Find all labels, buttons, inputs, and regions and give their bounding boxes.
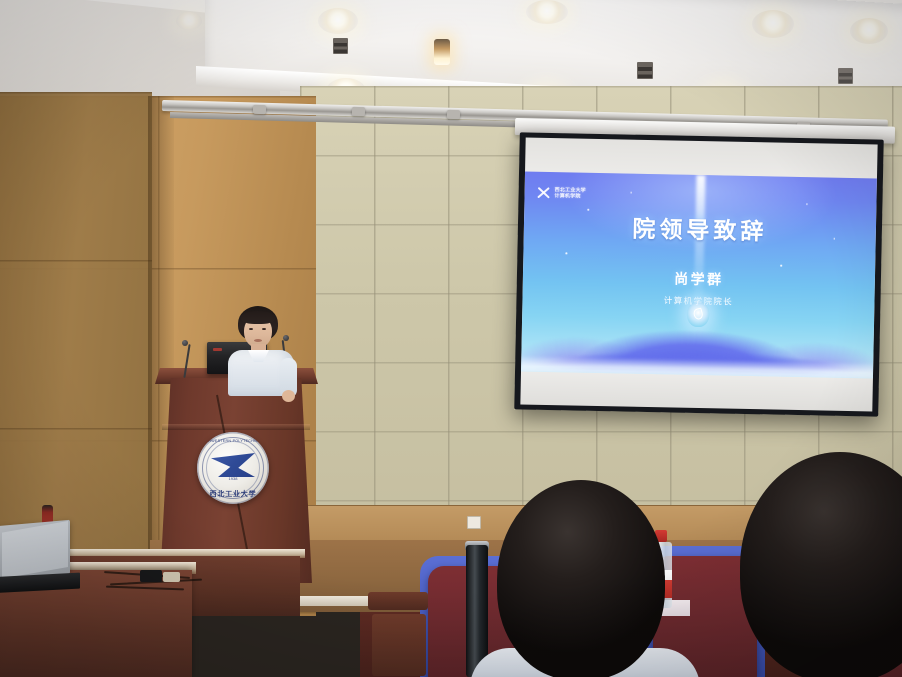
slide-brand-logo: 西北工业大学 计算机学院 — [536, 186, 585, 201]
power-adapter-icon — [140, 570, 162, 582]
slide-star — [630, 192, 632, 194]
slide-content: 西北工业大学 计算机学院 院领导致辞 尚学群 计算机学院院长 — [521, 171, 877, 378]
recessed-downlight-icon — [850, 18, 888, 44]
laptop-screen — [2, 521, 68, 579]
laptop-lid — [0, 520, 70, 580]
seat-armrest — [368, 592, 428, 610]
projection-screen: 西北工业大学 计算机学院 院领导致辞 尚学群 计算机学院院长 — [514, 132, 883, 416]
podium-trim-band — [162, 424, 310, 430]
recessed-downlight-icon — [752, 10, 794, 38]
presenter-mouth — [254, 339, 262, 342]
rail-clip-icon — [352, 107, 365, 116]
audience-head-foreground-left — [497, 480, 665, 677]
conference-photo-scene: 西北工业大学 计算机学院 院领导致辞 尚学群 计算机学院院长 NORTH — [0, 0, 902, 677]
presenter-at-podium — [222, 306, 302, 386]
seat-armrest — [372, 614, 426, 676]
presenter-eye-right — [262, 328, 266, 330]
slide-speaker-name: 尚学群 — [523, 265, 875, 292]
wall-outlet-icon — [467, 516, 481, 529]
wood-panel-wall-corner — [0, 92, 152, 592]
recessed-downlight-icon — [318, 8, 358, 34]
slide-star — [806, 203, 808, 205]
seal-year: 1938 — [197, 476, 269, 481]
seal-bottom-text: 西北工业大学 — [197, 489, 269, 499]
power-brick-icon — [163, 572, 180, 582]
university-wing-emblem-icon: NORTHWESTERN POLYTECHNICAL UNIVERSITY 19… — [197, 432, 269, 504]
laptop-brand-mark — [213, 348, 222, 351]
recessed-downlight-icon — [526, 0, 568, 24]
slide-logo-text: 西北工业大学 计算机学院 — [554, 187, 585, 200]
slide-logo-line2: 计算机学院 — [554, 193, 580, 200]
rail-clip-icon — [447, 110, 460, 119]
warm-spotlight-icon — [434, 39, 450, 65]
recessed-downlight-icon — [176, 12, 202, 30]
slide-star — [780, 265, 782, 267]
slide-title: 院领导致辞 — [524, 207, 877, 248]
presenter-fringe — [241, 311, 275, 324]
ceiling-vent-icon — [333, 38, 348, 54]
seal-top-text: NORTHWESTERN POLYTECHNICAL UNIVERSITY — [197, 439, 269, 443]
open-laptop-icon — [0, 523, 76, 595]
x-mark-icon — [536, 186, 550, 200]
presenter-eye-left — [249, 328, 253, 330]
ceiling-vent-icon — [637, 62, 653, 79]
cable-strand — [106, 586, 184, 591]
ceiling-vent-icon — [838, 68, 853, 84]
microphone-head-icon — [182, 340, 188, 346]
screen-fabric: 西北工业大学 计算机学院 院领导致辞 尚学群 计算机学院院长 — [520, 137, 877, 411]
laptop-keyboard-base — [0, 573, 80, 594]
rail-clip-icon — [253, 105, 266, 114]
slide-star — [566, 252, 568, 254]
presenter-hand — [282, 390, 295, 402]
